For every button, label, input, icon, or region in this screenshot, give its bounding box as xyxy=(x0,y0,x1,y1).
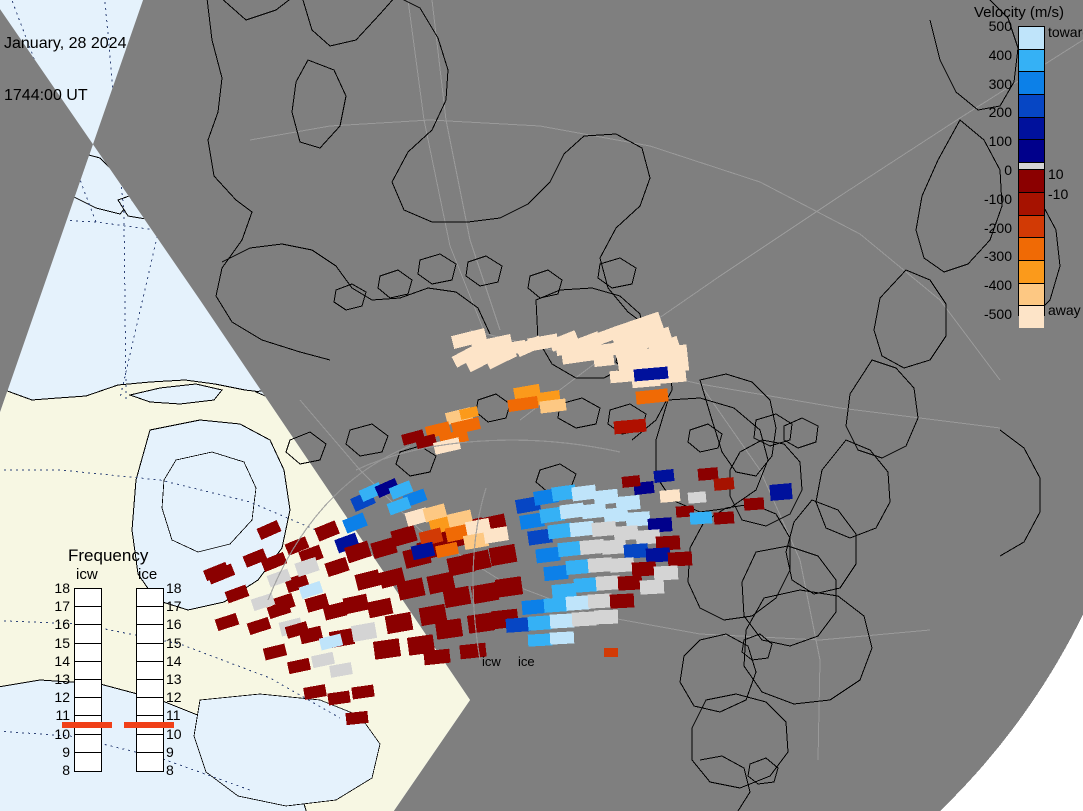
velocity-band-toward-1 xyxy=(1019,50,1044,73)
time-label: 1744:00 UT xyxy=(4,87,126,105)
frequency-scale-label-9: 9 xyxy=(166,744,188,760)
velocity-tick--100: -100 xyxy=(966,191,1012,207)
frequency-bar-icw[interactable] xyxy=(74,588,102,772)
velocity-tick--500: -500 xyxy=(966,306,1012,322)
velocity-band-away-2 xyxy=(1019,216,1044,239)
frequency-scale-label-15: 15 xyxy=(166,635,188,651)
frequency-scale-label-15: 15 xyxy=(48,635,70,651)
velocity-band-away-4 xyxy=(1019,261,1044,284)
date-label: January, 28 2024 xyxy=(4,35,126,53)
velocity-tick-300: 300 xyxy=(966,76,1012,92)
frequency-scale-label-16: 16 xyxy=(48,616,70,632)
frequency-segment xyxy=(75,680,101,698)
frequency-segment xyxy=(75,589,101,607)
velocity-band-toward-2 xyxy=(1019,72,1044,95)
frequency-marker-ice xyxy=(124,722,174,728)
frequency-segment xyxy=(137,644,163,662)
frequency-scale-label-8: 8 xyxy=(48,762,70,778)
lower-threshold-label: -10 xyxy=(1048,186,1068,202)
timestamp-block: January, 28 2024 1744:00 UT xyxy=(4,1,126,138)
frequency-segment xyxy=(75,662,101,680)
velocity-tick-200: 200 xyxy=(966,104,1012,120)
velocity-band-toward-0 xyxy=(1019,27,1044,50)
frequency-marker-icw xyxy=(62,722,112,728)
frequency-scale-label-18: 18 xyxy=(166,580,188,596)
frequency-scale-label-10: 10 xyxy=(166,726,188,742)
upper-threshold-label: 10 xyxy=(1048,166,1064,182)
frequency-segment xyxy=(75,753,101,771)
velocity-tick-400: 400 xyxy=(966,47,1012,63)
velocity-band-toward-4 xyxy=(1019,118,1044,141)
velocity-band-toward-5 xyxy=(1019,140,1044,163)
frequency-segment xyxy=(137,753,163,771)
frequency-bar-label-ice: ice xyxy=(138,566,157,583)
frequency-scale-label-17: 17 xyxy=(166,598,188,614)
frequency-segment xyxy=(137,589,163,607)
frequency-segment xyxy=(137,698,163,716)
frequency-segment xyxy=(75,644,101,662)
frequency-segment xyxy=(137,680,163,698)
velocity-colorbar[interactable] xyxy=(1018,26,1045,316)
frequency-scale-label-8: 8 xyxy=(166,762,188,778)
frequency-scale-label-12: 12 xyxy=(48,689,70,705)
frequency-legend: Frequency icw ice 1818171716161515141413… xyxy=(40,546,190,786)
frequency-scale-label-13: 13 xyxy=(48,671,70,687)
velocity-legend: Velocity (m/s) 5004003002001000-100-200-… xyxy=(966,2,1083,332)
frequency-scale-label-12: 12 xyxy=(166,689,188,705)
frequency-segment xyxy=(137,735,163,753)
velocity-band-away-0 xyxy=(1019,170,1044,193)
frequency-scale-label-16: 16 xyxy=(166,616,188,632)
superdarn-velocity-map: icw ice January, 28 2024 1744:00 UT Velo… xyxy=(0,0,1083,811)
frequency-segment xyxy=(137,607,163,625)
velocity-tick--200: -200 xyxy=(966,220,1012,236)
frequency-scale-label-14: 14 xyxy=(48,653,70,669)
away-label: away xyxy=(1048,302,1081,318)
velocity-band-away-3 xyxy=(1019,238,1044,261)
frequency-segment xyxy=(137,625,163,643)
frequency-scale-label-14: 14 xyxy=(166,653,188,669)
velocity-tick--400: -400 xyxy=(966,277,1012,293)
frequency-scale-label-9: 9 xyxy=(48,744,70,760)
frequency-bar-label-icw: icw xyxy=(76,566,98,583)
station-label-icw: icw xyxy=(482,654,501,669)
frequency-legend-title: Frequency xyxy=(68,546,148,566)
frequency-segment xyxy=(75,625,101,643)
velocity-tick-0: 0 xyxy=(966,162,1012,178)
frequency-scale-label-18: 18 xyxy=(48,580,70,596)
velocity-band-ground-scatter xyxy=(1019,163,1044,170)
frequency-scale-label-17: 17 xyxy=(48,598,70,614)
velocity-band-away-6 xyxy=(1019,306,1044,328)
velocity-band-toward-3 xyxy=(1019,95,1044,118)
velocity-band-away-5 xyxy=(1019,284,1044,307)
frequency-segment xyxy=(75,607,101,625)
frequency-segment xyxy=(137,662,163,680)
frequency-scale-label-13: 13 xyxy=(166,671,188,687)
toward-label: toward xyxy=(1048,24,1083,40)
velocity-tick--300: -300 xyxy=(966,248,1012,264)
frequency-segment xyxy=(75,698,101,716)
frequency-scale-label-10: 10 xyxy=(48,726,70,742)
frequency-bar-ice[interactable] xyxy=(136,588,164,772)
velocity-band-away-1 xyxy=(1019,193,1044,216)
frequency-segment xyxy=(75,735,101,753)
velocity-tick-500: 500 xyxy=(966,18,1012,34)
velocity-tick-100: 100 xyxy=(966,133,1012,149)
station-label-ice: ice xyxy=(518,654,535,669)
